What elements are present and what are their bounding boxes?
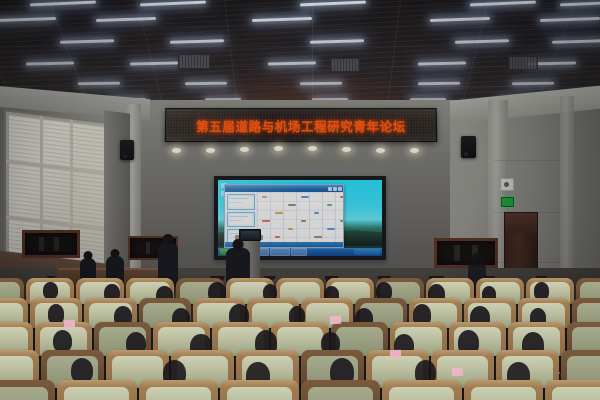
banner-title-text: 第五届道路与机场工程研究青年论坛 [196, 116, 406, 135]
content-gridlines [257, 192, 343, 247]
seat-row [0, 380, 600, 400]
ceiling-light-strip [185, 82, 227, 86]
auditorium-seat [0, 380, 55, 400]
app-content-grid[interactable] [257, 192, 343, 247]
seat-back-pad [389, 387, 454, 400]
photo-scene: 第五届道路与机场工程研究青年论坛 [0, 0, 600, 400]
auditorium-seat [464, 380, 543, 400]
door-transom [505, 213, 537, 233]
minimize-icon[interactable] [328, 187, 332, 191]
downlight [206, 148, 215, 153]
seat-back-pad [64, 387, 129, 400]
led-banner: 第五届道路与机场工程研究青年论坛 [165, 108, 438, 142]
wall-control-box [500, 178, 514, 191]
right-speaker [461, 136, 476, 158]
seat-handout-note [452, 368, 463, 377]
close-icon[interactable] [338, 187, 342, 191]
exit-sign [501, 197, 514, 207]
content-cell-mark [301, 196, 309, 198]
content-cell-mark [262, 196, 267, 198]
content-cell-mark [327, 204, 332, 206]
auditorium-seat [545, 380, 600, 400]
left-acoustic-panel [22, 230, 80, 258]
ceiling-vent [508, 56, 538, 70]
content-cell-mark [288, 204, 296, 206]
downlight [342, 147, 351, 152]
seat-back-pad [308, 387, 373, 400]
side-panel-box[interactable] [227, 194, 255, 210]
ceiling-light-strip [418, 82, 460, 86]
left-speaker [120, 140, 134, 160]
content-cell-mark [314, 212, 319, 214]
taskbar-window-button[interactable] [291, 248, 307, 256]
content-cell-mark [327, 228, 335, 230]
auditorium-seat [382, 380, 461, 400]
auditorium-seat [57, 380, 136, 400]
content-cell-mark [340, 220, 344, 222]
content-cell-mark [275, 236, 280, 238]
seat-back-pad [146, 387, 211, 400]
right-acoustic-panel [434, 238, 498, 268]
seat-back-pad [0, 387, 48, 400]
side-panel-box[interactable] [227, 212, 255, 228]
seat-handout-note [64, 320, 75, 329]
content-cell-mark [314, 236, 322, 238]
seat-back-pad [471, 387, 536, 400]
auditorium-seat [139, 380, 218, 400]
audience-member [43, 282, 57, 299]
audience-seating [0, 276, 600, 400]
ceiling-vent [178, 54, 210, 69]
seat-back-pad [552, 387, 600, 400]
taskbar-window-button[interactable] [270, 248, 290, 256]
laptop [239, 229, 261, 241]
ceiling-light-strip [512, 82, 554, 86]
content-cell-mark [301, 220, 306, 222]
seat-handout-note [390, 350, 401, 359]
content-cell-mark [340, 196, 344, 198]
downlight [240, 147, 249, 152]
audience-member [53, 330, 72, 352]
auditorium-seat [220, 380, 299, 400]
content-cell-mark [288, 228, 293, 230]
seat-back-pad [227, 387, 292, 400]
stone-seam [494, 160, 560, 161]
seat-handout-note [330, 316, 341, 325]
downlight [376, 148, 385, 153]
maximize-icon[interactable] [333, 187, 337, 191]
audience-member [48, 304, 65, 323]
content-cell-mark [275, 212, 283, 214]
app-titlebar[interactable] [225, 185, 343, 192]
system-tray[interactable] [354, 249, 380, 255]
ceiling-vent [330, 58, 360, 72]
ceiling-light-strip [300, 82, 342, 86]
content-cell-mark [262, 220, 270, 222]
ceiling-light-strip [78, 82, 120, 86]
auditorium-seat [301, 380, 380, 400]
